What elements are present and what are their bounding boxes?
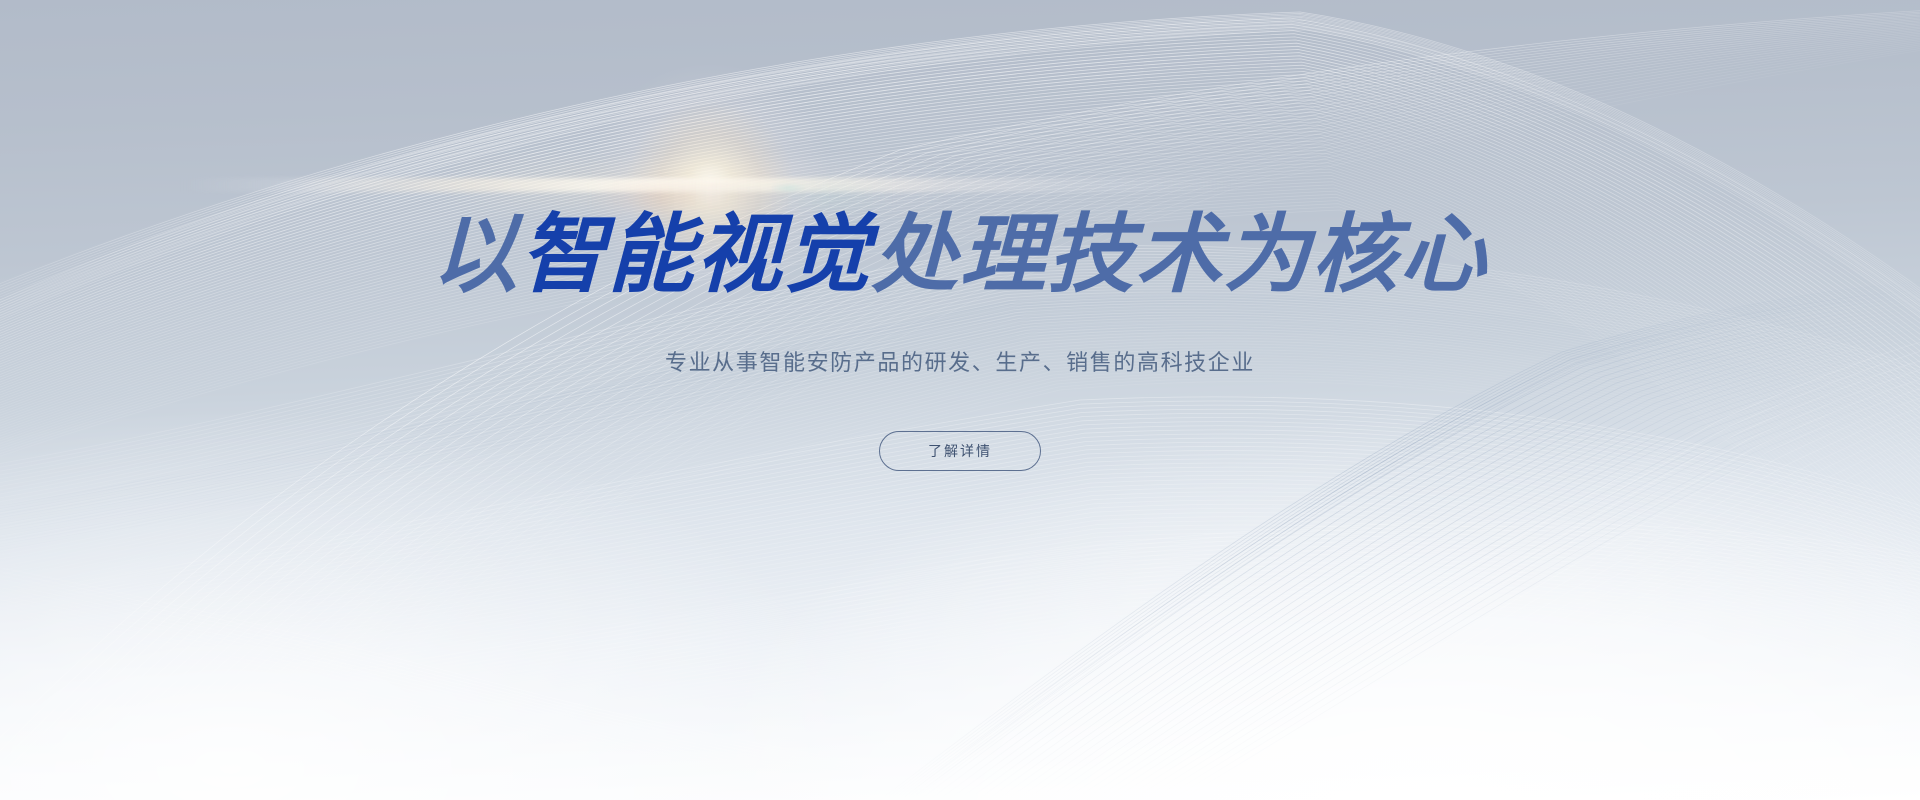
- headline-segment-c: 处理技术为核心: [871, 207, 1489, 303]
- hero-banner: 以智能视觉处理技术为核心 专业从事智能安防产品的研发、生产、销售的高科技企业 了…: [0, 0, 1920, 800]
- headline-segment-a: 以: [431, 207, 521, 303]
- hero-content: 以智能视觉处理技术为核心 专业从事智能安防产品的研发、生产、销售的高科技企业 了…: [0, 0, 1920, 800]
- page-title: 以智能视觉处理技术为核心: [431, 212, 1489, 298]
- headline-segment-b: 智能视觉: [519, 207, 873, 303]
- learn-more-button[interactable]: 了解详情: [879, 431, 1041, 471]
- hero-subtitle: 专业从事智能安防产品的研发、生产、销售的高科技企业: [665, 345, 1255, 377]
